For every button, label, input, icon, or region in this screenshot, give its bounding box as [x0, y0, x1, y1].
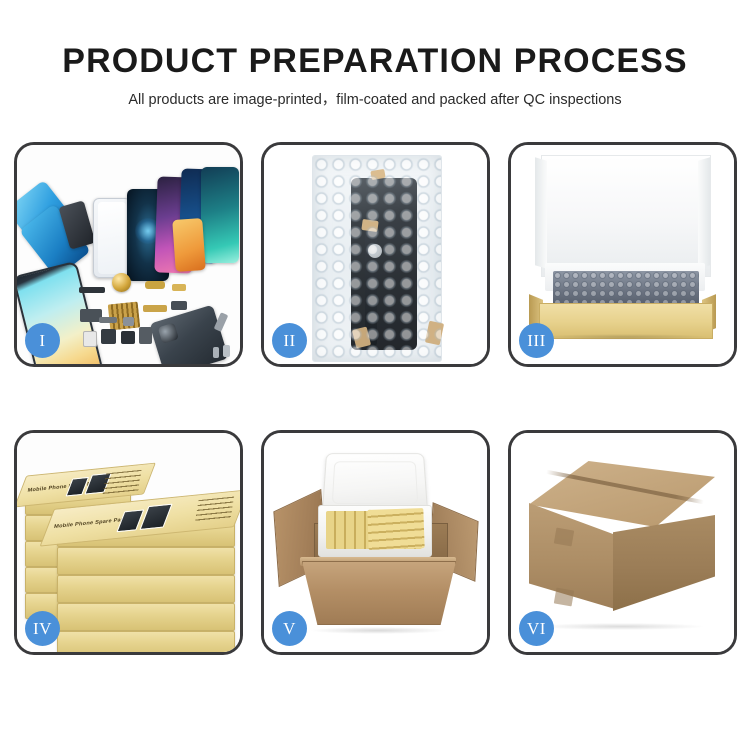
sealed-carton-shadow [539, 623, 703, 630]
yellow-boxes-row-2-icon [367, 508, 424, 550]
tape-strip-4-icon [425, 321, 444, 346]
box-label-spec-lines-front [195, 497, 234, 524]
chip-array-icon [108, 302, 141, 331]
process-step-card-2: II [261, 142, 490, 367]
carton-tape-patch-1-icon [554, 528, 575, 547]
step-badge-3: III [519, 323, 554, 358]
bubble-wrap-bag-icon [312, 155, 442, 362]
step-badge-1: I [25, 323, 60, 358]
wrapped-connector-icon [368, 244, 382, 258]
wrapped-part-icon [351, 178, 417, 350]
bubble-wrapped-contents-icon [553, 271, 699, 307]
page-subtitle: All products are image-printed，film-coat… [0, 78, 750, 108]
carton-body-icon [302, 561, 456, 625]
step-badge-5: V [272, 611, 307, 646]
screw-part-icon [223, 345, 230, 357]
tempered-glass-icon [93, 198, 131, 278]
carton-shadow [310, 627, 446, 634]
white-connector-part-icon [83, 331, 97, 347]
box-shadow [541, 334, 709, 340]
process-step-card-6: VI [508, 430, 737, 655]
speaker-module-icon [112, 273, 131, 292]
process-step-card-4: Mobile Phone Spare Parts Mobile Phone Sp… [14, 430, 243, 655]
product-preparation-process-page: PRODUCT PREPARATION PROCESS All products… [0, 0, 750, 750]
stacked-box-front-2 [57, 547, 235, 575]
orange-display-phone-icon [172, 218, 206, 272]
process-step-grid: I II [14, 142, 736, 655]
vibrator-part-icon [139, 327, 152, 344]
box-label-spec-lines-back [102, 470, 141, 497]
screw-part-2-icon [213, 347, 219, 358]
gold-connector-part-icon [145, 281, 165, 289]
sim-tray-part-icon [123, 317, 134, 326]
stacked-box-front-4 [57, 603, 235, 631]
page-header: PRODUCT PREPARATION PROCESS All products… [0, 0, 750, 130]
teal-display-phone-icon [201, 167, 239, 263]
dark-chip-part-icon [101, 329, 116, 344]
flex-cable-part-icon [79, 287, 105, 293]
small-board-part-icon [171, 301, 187, 310]
foam-lining-panel-icon [541, 155, 711, 277]
tape-strip-2-icon [361, 219, 378, 232]
box-label-product-image-4 [139, 504, 172, 530]
sealed-carton-right-face-icon [613, 515, 715, 611]
ic-chip-part-icon [121, 331, 135, 344]
carton-tape-patch-2-icon [554, 588, 575, 607]
box-stack: Mobile Phone Spare Parts Mobile Phone Sp… [23, 453, 239, 643]
ribbon-cable-part-icon [143, 305, 167, 312]
stacked-box-front-5 [57, 631, 235, 655]
process-step-card-5: V [261, 430, 490, 655]
step-badge-6: VI [519, 611, 554, 646]
process-step-card-3: III [508, 142, 737, 367]
page-title: PRODUCT PREPARATION PROCESS [0, 0, 750, 78]
foam-lining-right-icon [698, 157, 710, 268]
step-badge-4: IV [25, 611, 60, 646]
process-step-card-1: I [14, 142, 243, 367]
foam-lining-left-icon [535, 157, 547, 268]
step-badge-2: II [272, 323, 307, 358]
metal-bracket-part-icon [99, 317, 117, 323]
stacked-box-front-3 [57, 575, 235, 603]
gold-contact-part-icon [172, 284, 186, 291]
